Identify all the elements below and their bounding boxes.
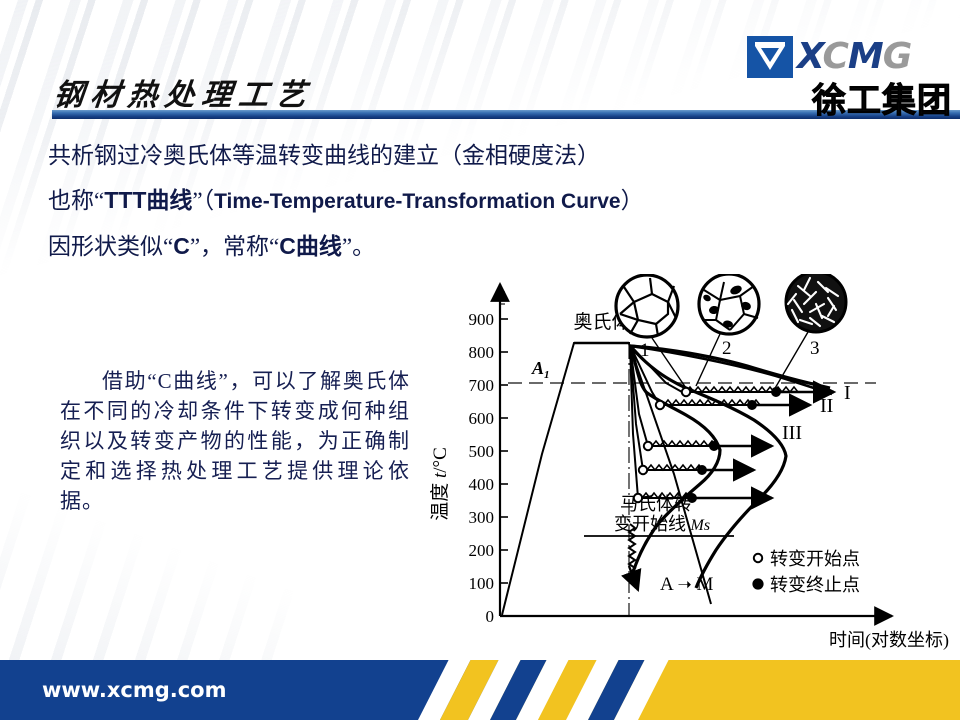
legend-label-start: 转变开始点: [770, 549, 860, 569]
svg-text:600: 600: [469, 409, 495, 428]
lede-l2-a: 也称“: [48, 188, 104, 213]
svg-text:300: 300: [469, 508, 495, 527]
footer-url[interactable]: www.xcmg.com: [42, 678, 226, 702]
microstructure-circle-3: 3: [774, 274, 846, 390]
logo-letter-g: G: [883, 36, 912, 77]
x-axis-title: 时间(对数坐标): [829, 630, 949, 651]
lede-l3-e: ”。: [342, 234, 375, 259]
xcmg-logo: XCMG 徐工集团: [747, 34, 952, 126]
a1-label: A1: [531, 358, 550, 381]
lede-l3-c2: ”，常称“: [190, 234, 279, 259]
page-title: 钢材热处理工艺: [52, 70, 316, 114]
legend-marker-finish: [753, 579, 762, 588]
svg-text:400: 400: [469, 475, 495, 494]
a-to-m-label: A ➝ M: [660, 574, 713, 595]
svg-text:0: 0: [486, 607, 495, 626]
svg-text:900: 900: [469, 310, 495, 329]
ttt-curve-figure: 0 100 200 300 400 500 600 700 800 900 温度…: [424, 274, 956, 652]
ms-label-line1: 马氏体转: [620, 494, 692, 514]
svg-text:500: 500: [469, 442, 495, 461]
lede-text-block: 共析钢过冷奥氏体等温转变曲线的建立（金相硬度法） 也称“TTT曲线”（Time-…: [48, 134, 518, 269]
logo-company-name-cn: 徐工集团: [747, 82, 952, 122]
slide-root: 钢材热处理工艺 XCMG 徐工集团 共析钢过冷奥氏体等温转变曲线的建立（金相硬度…: [0, 0, 960, 720]
micro-label-1: 1: [640, 340, 650, 361]
logo-wordmark: XCMG: [797, 39, 911, 75]
lede-l2-english: Time-Temperature-Transformation Curve: [214, 190, 621, 213]
svg-text:800: 800: [469, 343, 495, 362]
svg-text:200: 200: [469, 541, 495, 560]
legend-label-finish: 转变终止点: [770, 575, 860, 595]
body-paragraph: 借助“C曲线”，可以了解奥氏体在不同的冷却条件下转变成何种组织以及转变产物的性能…: [60, 366, 410, 516]
y-axis-ticks: [500, 319, 508, 616]
logo-letter-m: M: [848, 36, 883, 77]
ttt-curve-svg: 0 100 200 300 400 500 600 700 800 900 温度…: [424, 274, 956, 652]
micro-label-3: 3: [810, 338, 820, 359]
lede-line-2: 也称“TTT曲线”（Time-Temperature-Transformatio…: [48, 178, 518, 224]
lede-l3-ccurve: C曲线: [279, 233, 342, 259]
xcmg-diamond-icon: [747, 36, 793, 78]
lede-line-1: 共析钢过冷奥氏体等温转变曲线的建立（金相硬度法）: [48, 134, 518, 178]
ms-label-line2: 变开始线 Ms: [614, 514, 710, 534]
lede-l2-ttt: TTT曲线: [104, 187, 192, 213]
micro-label-2: 2: [722, 338, 732, 359]
logo-letter-x: X: [797, 36, 822, 77]
lede-l3-c: C: [173, 233, 190, 259]
lede-line-3: 因形状类似“C”，常称“C曲线”。: [48, 224, 518, 269]
svg-text:100: 100: [469, 574, 495, 593]
logo-letter-c: C: [822, 36, 847, 77]
svg-text:700: 700: [469, 376, 495, 395]
chart-legend: 转变开始点 转变终止点: [753, 549, 860, 595]
curve-label-II: II: [820, 395, 833, 417]
transformation-finish-curve: [632, 348, 786, 588]
y-axis-tick-labels: 0 100 200 300 400 500 600 700 800 900: [469, 310, 495, 626]
lede-l2-e: ）: [621, 188, 644, 213]
lede-l3-a: 因形状类似“: [48, 234, 173, 259]
lede-l2-c: ”（: [192, 188, 214, 213]
body-paragraph-text: 借助“C曲线”，可以了解奥氏体在不同的冷却条件下转变成何种组织以及转变产物的性能…: [60, 366, 410, 516]
curve-label-III: III: [782, 422, 802, 444]
curve-label-I: I: [844, 382, 851, 404]
legend-marker-start: [754, 554, 762, 562]
y-axis-title: 温度 t/°C: [429, 447, 451, 521]
footer-bar: www.xcmg.com: [0, 660, 960, 720]
